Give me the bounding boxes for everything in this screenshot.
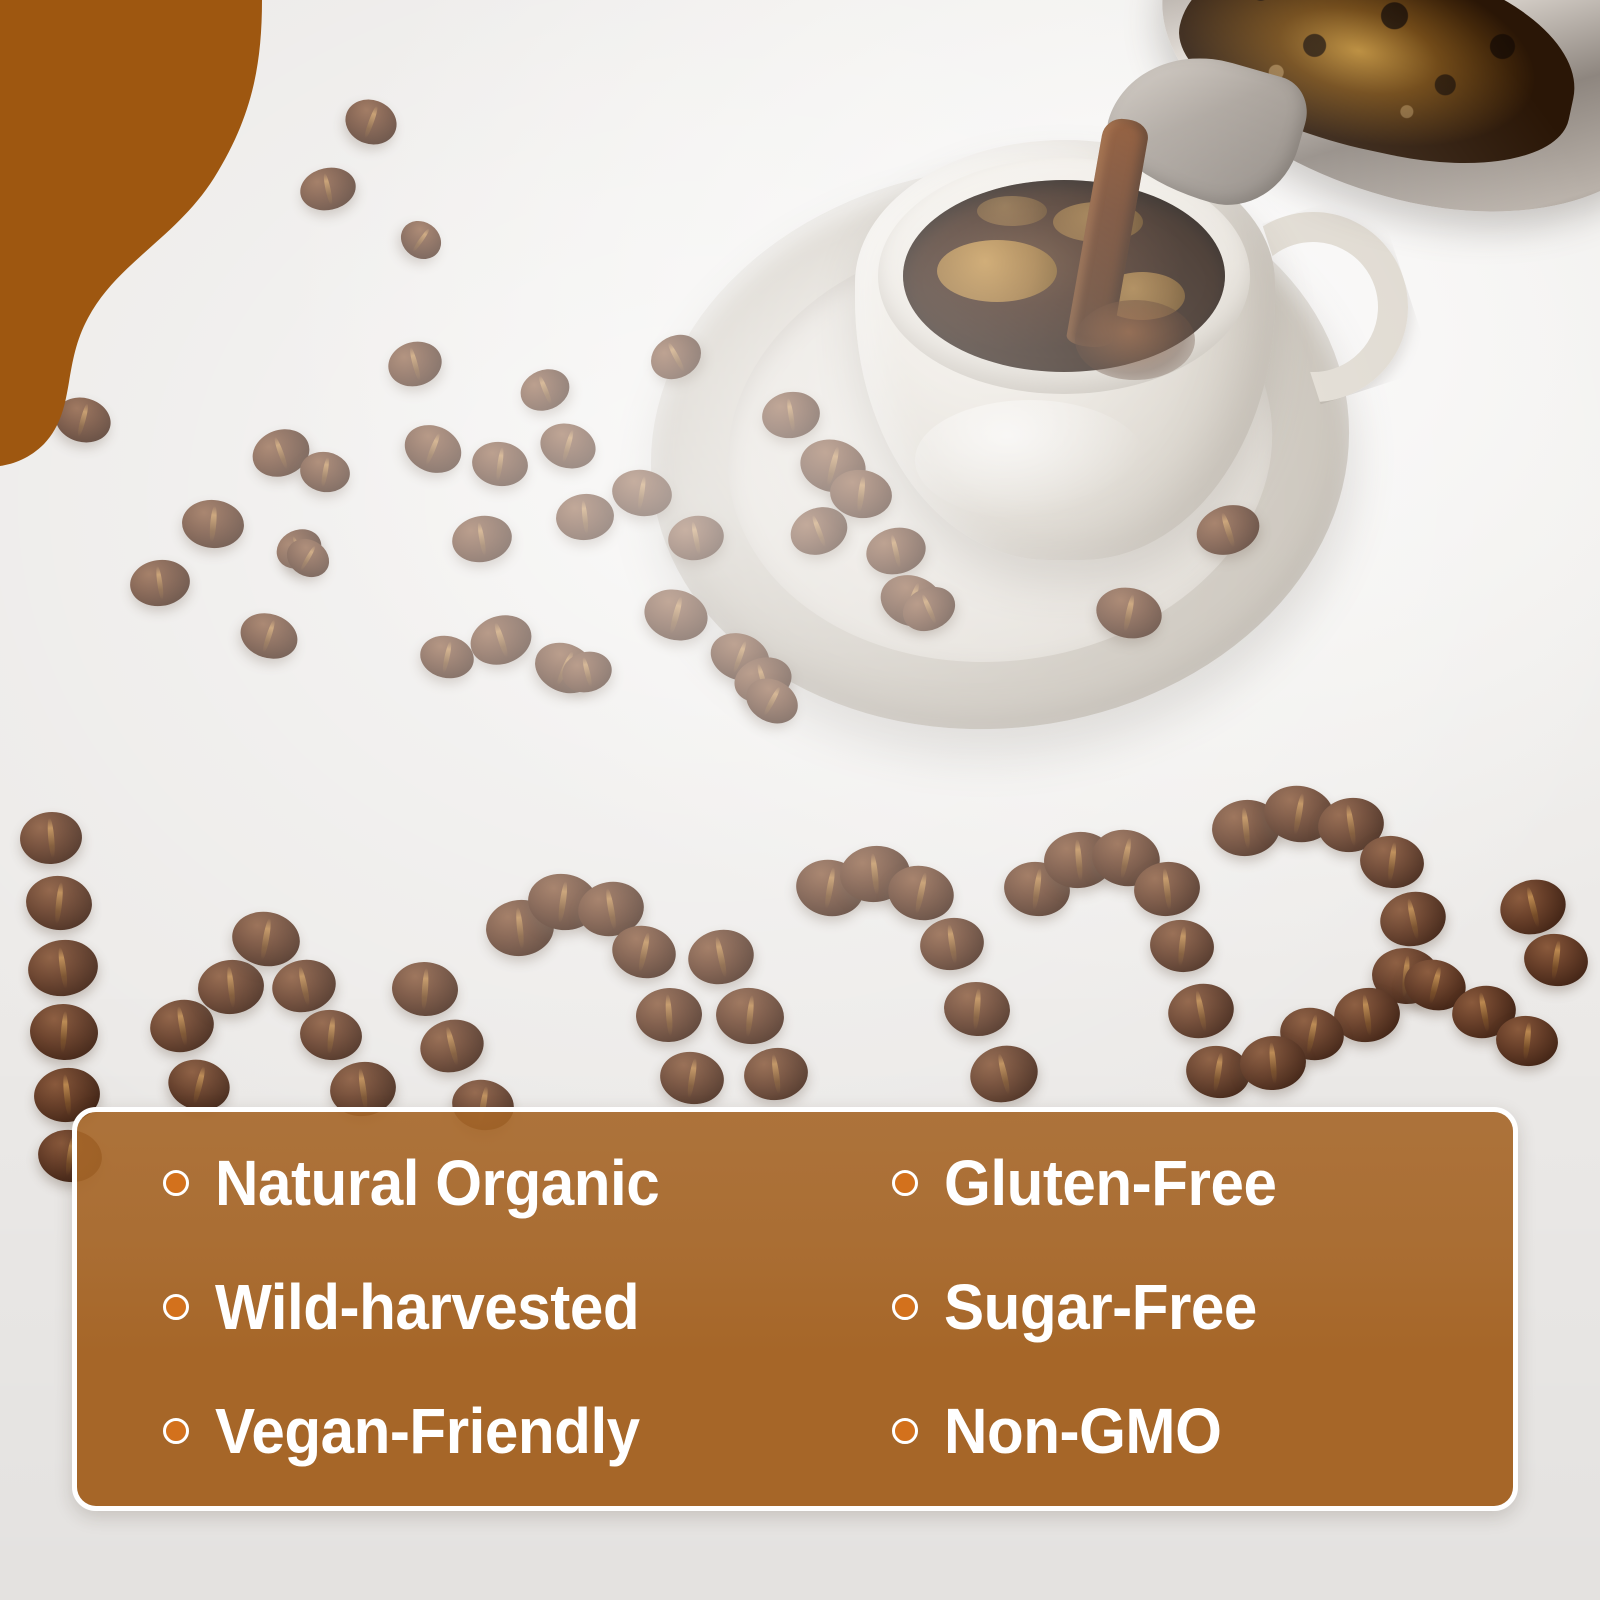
feature-item[interactable]: Wild-harvested — [163, 1245, 892, 1369]
feature-item[interactable]: Vegan-Friendly — [163, 1369, 892, 1493]
feature-item[interactable]: Sugar-Free — [892, 1245, 1513, 1369]
bullet-dot-icon — [892, 1418, 918, 1444]
bullet-dot-icon — [163, 1418, 189, 1444]
feature-label: Sugar-Free — [944, 1275, 1257, 1339]
feature-label: Wild-harvested — [215, 1275, 639, 1339]
feature-item[interactable]: Non-GMO — [892, 1369, 1513, 1493]
bullet-dot-icon — [892, 1170, 918, 1196]
feature-banner: Natural Organic Wild-harvested Vegan-Fri… — [72, 1107, 1518, 1511]
feature-label: Gluten-Free — [944, 1151, 1276, 1215]
bullet-dot-icon — [163, 1170, 189, 1196]
bullet-dot-icon — [163, 1294, 189, 1320]
feature-label: Vegan-Friendly — [215, 1399, 640, 1463]
feature-column-left: Natural Organic Wild-harvested Vegan-Fri… — [163, 1121, 892, 1493]
top-left-brown-blob — [0, 0, 300, 470]
bullet-dot-icon — [892, 1294, 918, 1320]
feature-item[interactable]: Gluten-Free — [892, 1121, 1513, 1245]
feature-label: Natural Organic — [215, 1151, 659, 1215]
feature-column-right: Gluten-Free Sugar-Free Non-GMO — [892, 1121, 1513, 1493]
feature-label: Non-GMO — [944, 1399, 1221, 1463]
coffee-product-poster: Natural Organic Wild-harvested Vegan-Fri… — [0, 0, 1600, 1600]
feature-item[interactable]: Natural Organic — [163, 1121, 892, 1245]
